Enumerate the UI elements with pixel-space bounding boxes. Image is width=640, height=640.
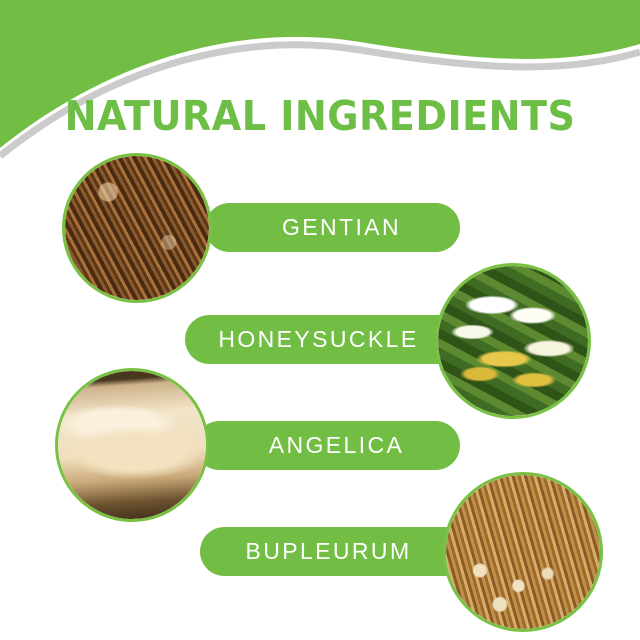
ingredient-pill-gentian[interactable]: GENTIAN: [205, 203, 460, 252]
ingredient-image-angelica: [55, 368, 209, 522]
ingredient-pill-angelica[interactable]: ANGELICA: [195, 421, 460, 470]
angelica-photo: [58, 371, 206, 519]
header-wave-graphic: [0, 0, 640, 170]
ingredients-poster: NATURAL INGREDIENTS GENTIAN HONEYSUCKLE …: [0, 0, 640, 640]
ingredient-image-bupleurum: [443, 472, 603, 632]
ingredient-pill-honeysuckle[interactable]: HONEYSUCKLE: [185, 315, 470, 364]
bupleurum-photo: [446, 475, 600, 629]
ingredient-label-angelica: ANGELICA: [269, 432, 405, 459]
ingredient-pill-bupleurum[interactable]: BUPLEURUM: [200, 527, 475, 576]
gentian-photo: [65, 156, 209, 300]
page-title: NATURAL INGREDIENTS: [22, 96, 617, 137]
ingredient-label-gentian: GENTIAN: [282, 214, 401, 241]
ingredient-label-honeysuckle: HONEYSUCKLE: [218, 326, 418, 353]
ingredient-image-gentian: [62, 153, 212, 303]
ingredient-image-honeysuckle: [435, 263, 591, 419]
ingredient-label-bupleurum: BUPLEURUM: [245, 538, 411, 565]
honeysuckle-photo: [438, 266, 588, 416]
